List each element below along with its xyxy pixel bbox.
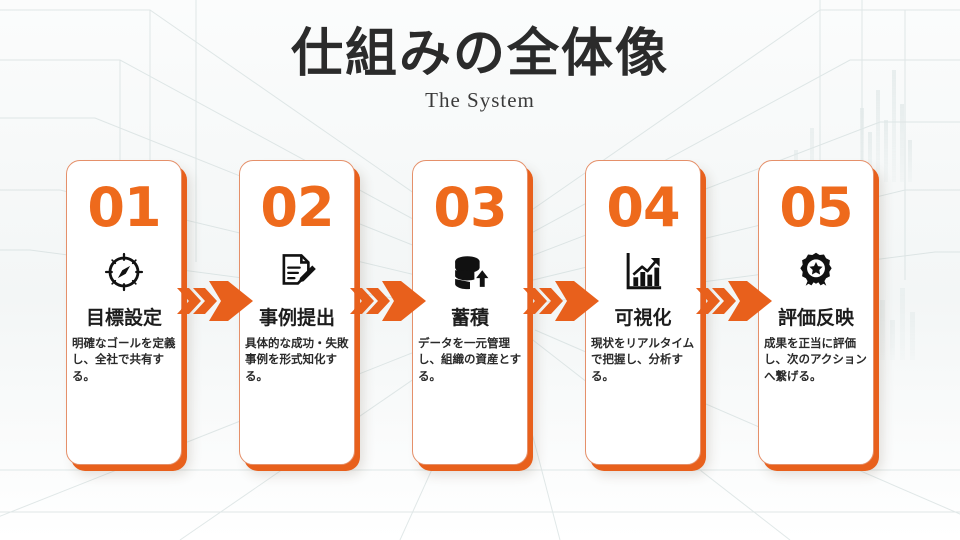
step-card-5[interactable]: 05 評価反映 成果を正当に評価し、次のアクションへ繋げる。 [758, 160, 874, 465]
arrow-1-to-2 [176, 278, 254, 324]
step-number: 05 [779, 181, 852, 235]
step-description: 具体的な成功・失敗事例を形式知化する。 [245, 336, 349, 385]
step-label: 可視化 [614, 303, 671, 330]
step-label: 蓄積 [451, 303, 489, 330]
step-card-4[interactable]: 04 可視化 現状をリアルタイムで把握し、分析する。 [585, 160, 701, 465]
arrow-3-to-4 [522, 278, 600, 324]
step-card-1[interactable]: 01 [66, 160, 182, 465]
step-card-3[interactable]: 03 蓄積 データを一元管理し、組織の資産とする。 [412, 160, 528, 465]
database-upload-icon [449, 249, 491, 295]
page-subtitle: The System [0, 88, 960, 113]
page-title: 仕組みの全体像 [0, 26, 960, 82]
process-steps: 01 [0, 160, 960, 480]
step-label: 目標設定 [86, 303, 162, 330]
step-number: 02 [260, 181, 333, 235]
award-medal-icon [795, 249, 837, 295]
step-label: 評価反映 [778, 303, 854, 330]
step-description: データを一元管理し、組織の資産とする。 [418, 336, 522, 385]
step-label: 事例提出 [259, 303, 335, 330]
compass-icon [103, 249, 145, 295]
step-number: 03 [433, 181, 506, 235]
step-description: 明確なゴールを定義し、全社で共有する。 [72, 336, 176, 385]
step-number: 01 [87, 181, 160, 235]
slide-canvas: 仕組みの全体像 The System 01 [0, 0, 960, 540]
step-description: 成果を正当に評価し、次のアクションへ繋げる。 [764, 336, 868, 385]
document-pencil-icon [276, 249, 318, 295]
arrow-2-to-3 [349, 278, 427, 324]
growth-chart-icon [622, 249, 664, 295]
step-number: 04 [606, 181, 679, 235]
step-card-2[interactable]: 02 事例提出 具体的な成功・失敗事例を形式知化する。 [239, 160, 355, 465]
slide-header: 仕組みの全体像 The System [0, 26, 960, 113]
arrow-4-to-5 [695, 278, 773, 324]
step-description: 現状をリアルタイムで把握し、分析する。 [591, 336, 695, 385]
